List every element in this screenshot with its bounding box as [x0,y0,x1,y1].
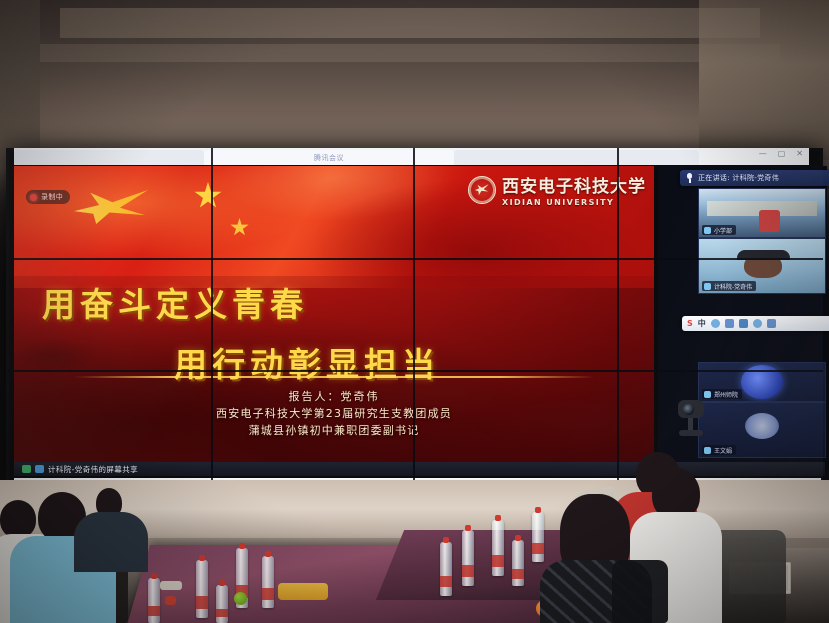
ptz-camera [676,400,706,440]
recording-badge: 录制中 [26,190,70,204]
ime-toolbox-icon[interactable] [753,319,762,328]
panel-seam-v1 [211,148,213,483]
water-bottle [512,540,524,586]
camera-lens-icon [683,404,694,415]
shared-window-titlebar: 腾讯会议 — ▢ ✕ [14,148,809,165]
water-bottle [262,556,274,608]
participant-tile[interactable]: 王文娟 [698,402,826,458]
water-bottle [492,520,504,576]
panel-seam-h1 [6,258,823,260]
water-bottle [440,542,452,596]
person-head [0,500,36,538]
ceiling-panel [60,8,760,38]
sogou-ime-toolbar[interactable]: S 中 [682,316,829,331]
fruit-apple [234,592,247,605]
screen-share-label: 计科院-党奇伟的屏幕共享 [48,464,138,475]
slide-subtitle-block: 报告人：党奇伟 西安电子科技大学第23届研究生支教团成员 蒲城县孙镇初中兼职团委… [14,388,654,439]
microphone-icon [686,173,693,183]
participant-mic-icon [704,447,711,454]
record-dot-icon [30,194,37,201]
sogou-logo-icon: S [687,319,693,328]
participant-name-badge: 王文娟 [702,445,736,455]
university-name-en: XIDIAN UNIVERSITY [502,198,646,207]
panel-seam-v3 [617,148,619,483]
ime-mode-label[interactable]: 中 [698,318,706,329]
active-speaker-banner: 正在讲话: 计科院-党奇伟 [680,170,829,186]
water-bottle [148,578,160,623]
window-tabstrip: 腾讯会议 [14,148,809,165]
ceiling-panel-2 [40,44,780,62]
room-photo: 腾讯会议 — ▢ ✕ 西安电 [0,0,829,623]
camera-base [679,430,703,436]
presentation-slide: 西安电子科技大学 XIDIAN UNIVERSITY 录制中 用奋斗定义青春 用… [14,166,654,462]
ime-emoji-icon[interactable] [711,319,720,328]
participant-tile[interactable]: 计科院-党奇伟 [698,238,826,294]
water-bottle [196,560,208,618]
window-controls: — ▢ ✕ [759,150,803,158]
participant-name: 计科院-党奇伟 [714,282,752,291]
screen-share-footer: 计科院-党奇伟的屏幕共享 [14,462,825,476]
water-bottle [462,530,474,586]
ime-voice-icon[interactable] [725,319,734,328]
close-icon[interactable]: ✕ [796,150,803,158]
presenter-line: 报告人：党奇伟 [14,388,654,405]
minimize-icon[interactable]: — [759,150,767,158]
participant-name: 小学部 [714,226,732,235]
share-screen-icon [22,465,31,473]
person-body [74,512,148,572]
panel-seam-v2 [413,148,415,483]
snack-tray [278,583,328,600]
window-tab-active[interactable]: 腾讯会议 [204,150,454,165]
affiliation-line: 西安电子科技大学第23届研究生支教团成员 [14,405,654,422]
recording-label: 录制中 [41,192,63,202]
participant-tile[interactable]: 郑州师院 [698,362,826,402]
cup [160,581,182,590]
participant-name: 郑州师院 [714,390,738,399]
university-logo: 西安电子科技大学 XIDIAN UNIVERSITY [468,172,646,207]
participant-mic-icon [704,391,711,398]
app-title: 腾讯会议 [314,153,344,163]
participant-mic-icon [704,283,711,290]
water-bottle [532,512,544,562]
slide-title-line-1: 用奋斗定义青春 [42,278,654,326]
university-name-cn: 西安电子科技大学 [502,172,646,197]
fruit-small [165,596,176,605]
participant-name-badge: 郑州师院 [702,389,742,399]
share-user-icon [35,465,44,473]
participant-name-badge: 计科院-党奇伟 [702,281,756,291]
active-speaker-label: 正在讲话: 计科院-党奇伟 [698,173,779,183]
participant-mic-icon [704,227,711,234]
window-tab-3[interactable] [454,150,699,165]
ime-skin-icon[interactable] [767,319,776,328]
xidian-seal-icon [468,176,496,204]
ime-keyboard-icon[interactable] [739,319,748,328]
window-tab-1[interactable] [14,150,204,165]
participant-name: 王文娟 [714,446,732,455]
panel-seam-h2 [6,370,823,372]
participant-name-badge: 小学部 [702,225,736,235]
water-bottle [216,585,228,623]
office-chair [612,560,668,623]
slide-divider [74,376,594,378]
participant-tile[interactable]: 小学部 [698,188,826,238]
left-wall [0,0,40,170]
maximize-icon[interactable]: ▢ [778,150,786,158]
role-line: 蒲城县孙镇初中兼职团委副书记 [14,422,654,439]
